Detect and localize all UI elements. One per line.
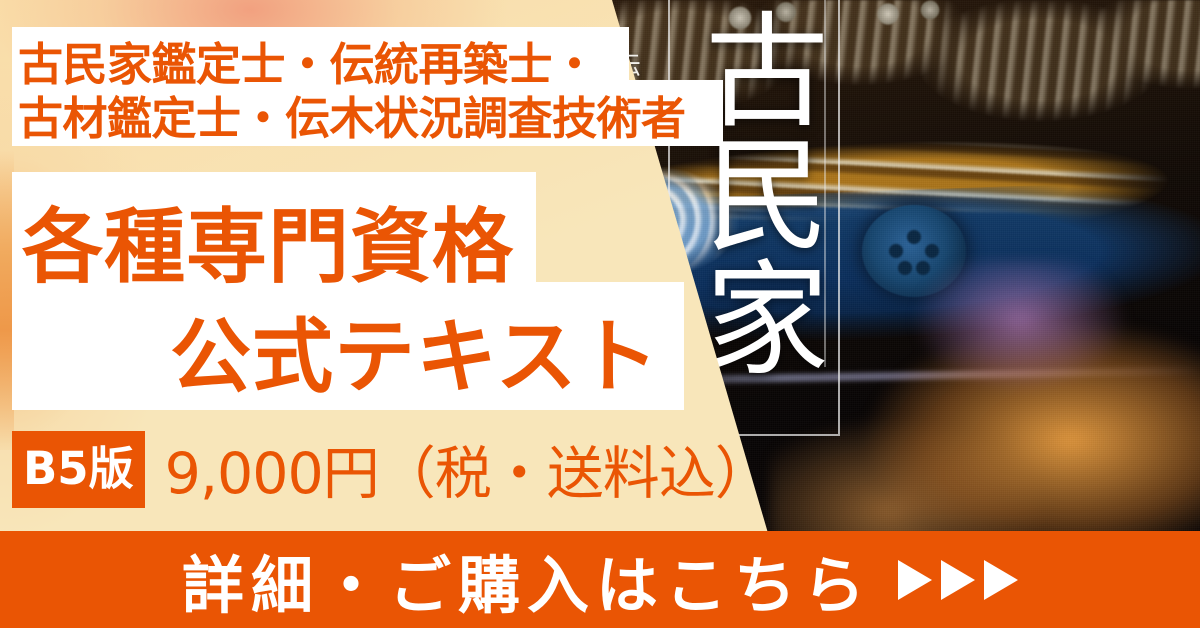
cta-button[interactable]: 詳細・ご購入はこちら: [0, 531, 1200, 628]
book-cover-title: 古民家: [688, 6, 820, 378]
format-badge-b5: B5版: [12, 431, 145, 508]
headline-text-line2: 公式テキスト: [170, 292, 660, 409]
promo-banner: 伝統構法、古民家活用のための調査と再生の 古民家 古民家鑑定士・伝統再築士・ 古…: [0, 0, 1200, 628]
kicker-text-line2: 古材鑑定士・伝木状況調査技術者: [18, 82, 686, 147]
cta-arrow-group: [898, 560, 1018, 600]
price-amount-text: 9,000円（税・送料込）: [165, 428, 771, 510]
cta-label: 詳細・ご購入はこちら: [182, 535, 872, 625]
chevron-right-icon: [898, 560, 932, 600]
chevron-right-icon: [984, 560, 1018, 600]
price-row: B5版 9,000円（税・送料込）: [12, 428, 771, 510]
headline-text-line1: 各種専門資格: [22, 182, 514, 299]
chevron-right-icon: [941, 560, 975, 600]
